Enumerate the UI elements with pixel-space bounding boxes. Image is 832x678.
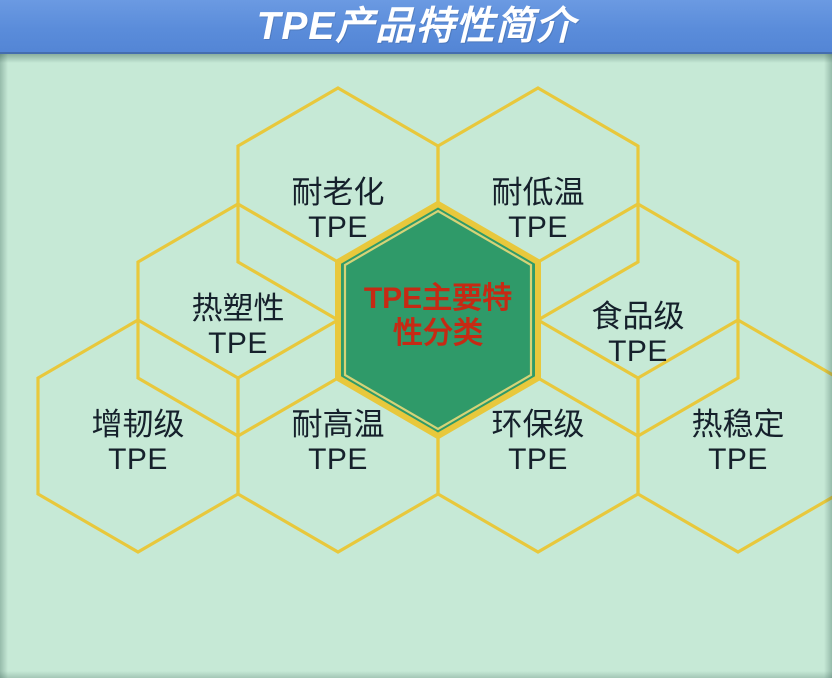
hex-shape-re-wen-ding[interactable] bbox=[638, 320, 832, 552]
diagram-canvas: 耐老化 TPE 耐低温 TPE 热塑性 TPE 食品级 TPE TPE主要特 性… bbox=[0, 54, 832, 678]
slide-title-bar: TPE产品特性简介 bbox=[0, 0, 832, 54]
page-title: TPE产品特性简介 bbox=[257, 7, 576, 46]
slide-root: TPE产品特性简介 耐老化 TPE 耐 bbox=[0, 0, 832, 678]
hex-shape-center[interactable] bbox=[338, 204, 538, 436]
honeycomb-svg bbox=[0, 54, 832, 678]
